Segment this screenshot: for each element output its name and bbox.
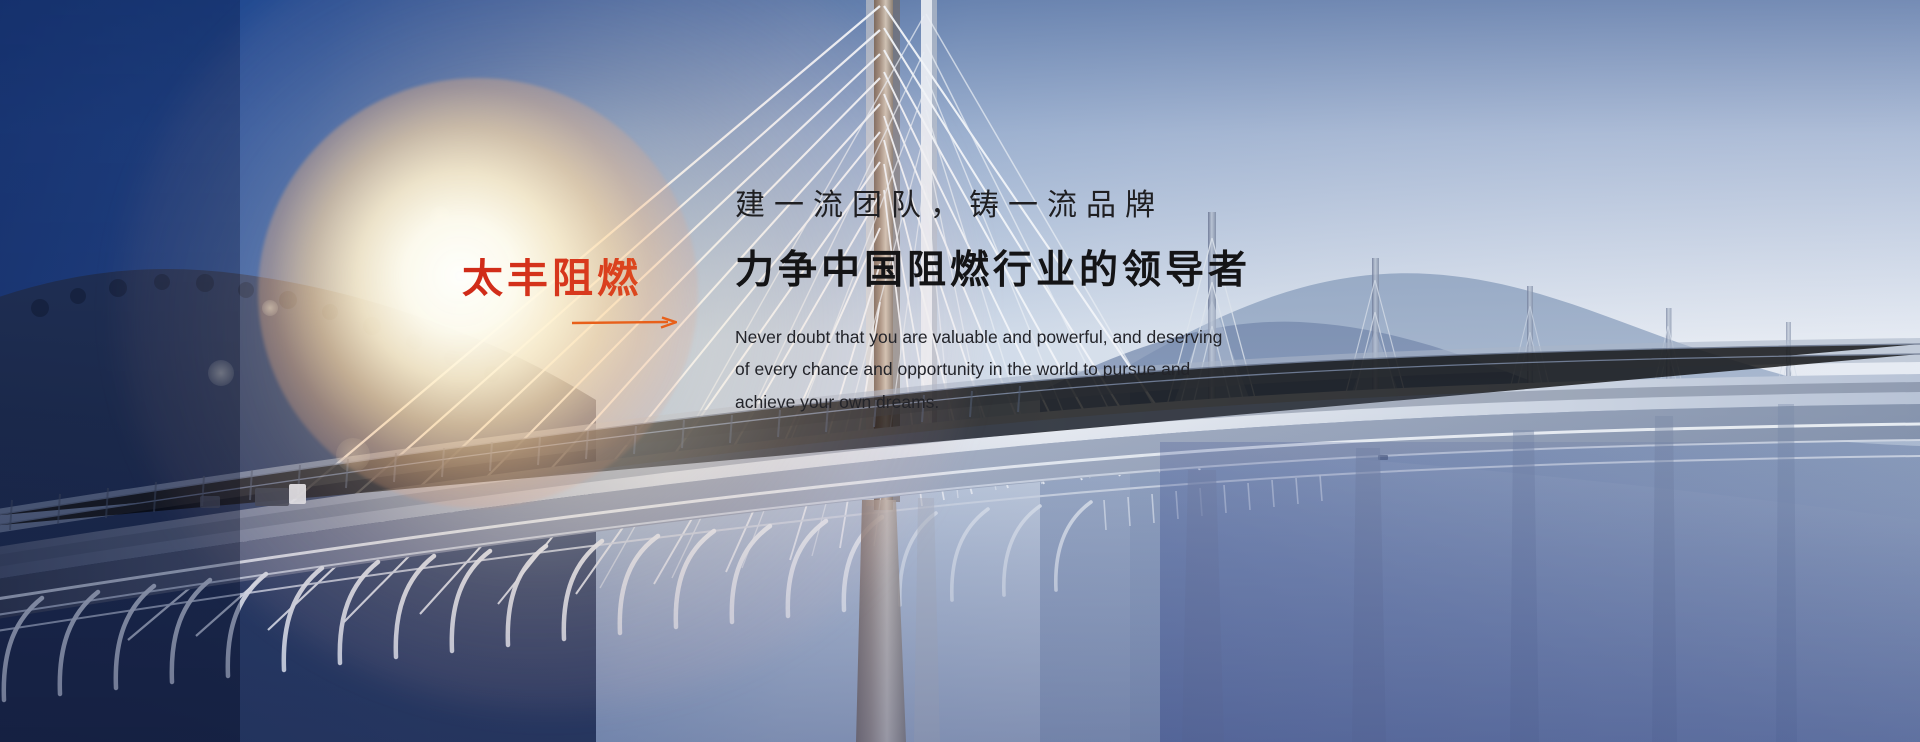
logo-text: 太丰阻燃: [462, 258, 682, 299]
headline-block: 建一流团队，铸一流品牌 力争中国阻燃行业的领导者 Never doubt tha…: [735, 188, 1435, 418]
paragraph-line-1: Never doubt that you are valuable and po…: [735, 321, 1205, 353]
paragraph-line-3: achieve your own dreams.: [735, 386, 1205, 418]
paragraph-line-2: of every chance and opportunity in the w…: [735, 353, 1205, 385]
headline-title: 力争中国阻燃行业的领导者: [735, 248, 1435, 295]
description-paragraph: Never doubt that you are valuable and po…: [735, 321, 1205, 418]
headline-subtitle: 建一流团队，铸一流品牌: [735, 188, 1435, 224]
logo-block[interactable]: 太丰阻燃: [462, 258, 682, 299]
arrow-right-icon: [572, 316, 677, 330]
banner-content: 太丰阻燃 建一流团队，铸一流品牌 力争中国阻燃行业的领导者 Never doub…: [0, 0, 1920, 742]
hero-banner: 太丰阻燃 建一流团队，铸一流品牌 力争中国阻燃行业的领导者 Never doub…: [0, 0, 1920, 742]
